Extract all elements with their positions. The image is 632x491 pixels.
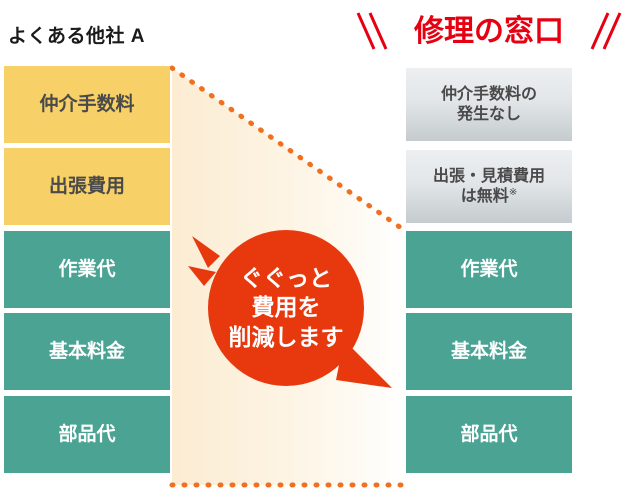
slash-left-decoration: [352, 9, 392, 51]
asterisk-note-mark: ※: [509, 187, 517, 198]
right-block-parts-cost: 部品代: [406, 396, 572, 473]
right-block-no-brokerage-fee: 仲介手数料の 発生なし: [406, 68, 572, 141]
left-block-label: 部品代: [58, 423, 115, 446]
right-block-label-line2: 発生なし: [457, 105, 521, 125]
right-block-label: 基本料金: [451, 340, 527, 363]
right-block-free-dispatch-estimate: 出張・見積費用 は無料※: [406, 150, 572, 223]
right-block-label-line1: 仲介手数料の: [441, 85, 537, 105]
left-column-header: よくある他社 A: [8, 21, 145, 48]
left-block-dispatch-fee: 出張費用: [4, 148, 170, 225]
cost-comparison-infographic: よくある他社 A 修理の窓口 仲介手数料 出張費用 作業代 基本料金 部品代 仲…: [0, 0, 632, 491]
right-block-label: 部品代: [460, 423, 517, 446]
dotted-diagonal-guide: [172, 68, 404, 230]
right-block-base-charge: 基本料金: [406, 313, 572, 390]
right-block-labor-cost: 作業代: [406, 231, 572, 308]
left-block-label: 基本料金: [49, 340, 125, 363]
left-block-labor-cost: 作業代: [4, 231, 170, 308]
spike-icon-upper: [192, 236, 220, 268]
left-block-label: 仲介手数料: [39, 93, 134, 116]
slash-right-decoration: [586, 9, 626, 51]
right-block-label-line2: は無料※: [461, 187, 517, 207]
bubble-tail: [336, 340, 392, 388]
left-block-label: 出張費用: [49, 175, 125, 198]
right-block-label-line2-text: は無料: [461, 188, 509, 205]
right-column-header: 修理の窓口: [389, 6, 589, 50]
savings-callout: ぐぐっと 費用を 削減します: [186, 228, 406, 408]
left-block-label: 作業代: [58, 258, 115, 281]
left-block-parts-cost: 部品代: [4, 396, 170, 473]
left-block-brokerage-fee: 仲介手数料: [4, 66, 170, 143]
spike-icon-lower: [188, 266, 216, 286]
savings-callout-bubble-shape: [186, 228, 406, 408]
right-block-label: 作業代: [460, 258, 517, 281]
right-block-label-line1: 出張・見積費用: [433, 167, 545, 187]
left-block-base-charge: 基本料金: [4, 313, 170, 390]
